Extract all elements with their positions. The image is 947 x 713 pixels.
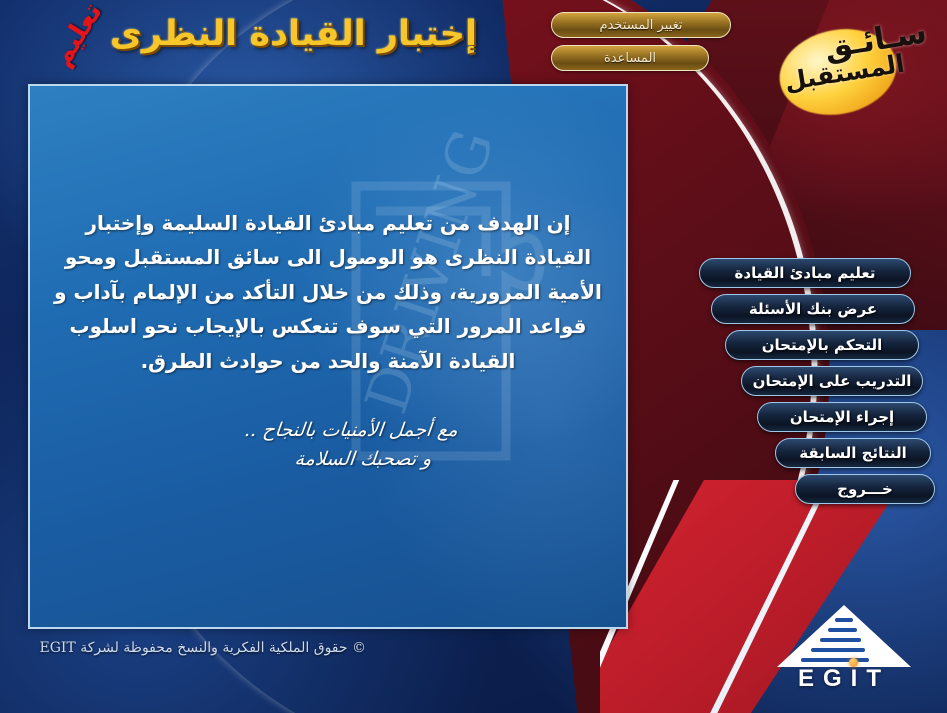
page-title-accent: تعليم — [46, 0, 109, 71]
menu-item-question-bank[interactable]: عرض بنك الأسئلة — [711, 294, 915, 324]
change-user-button[interactable]: تغيير المستخدم — [551, 12, 731, 38]
content-panel: DRIVING إن الهدف من تعليم مبادئ القيادة … — [28, 84, 628, 629]
top-actions: تغيير المستخدم المساعدة — [551, 12, 731, 78]
egit-wordmark: EGIT — [775, 665, 913, 693]
brand-logo: سـائـق المستقبل — [773, 6, 933, 124]
menu-item-learn-driving-principles[interactable]: تعليم مبادئ القيادة — [699, 258, 911, 288]
egit-logo: EGIT — [775, 603, 913, 695]
egit-pyramid-icon — [775, 603, 913, 673]
page-title-main: إختبار القيادة النظرى — [110, 14, 477, 54]
menu-item-take-exam[interactable]: إجراء الإمتحان — [757, 402, 927, 432]
help-button[interactable]: المساعدة — [551, 45, 709, 71]
menu-item-exam-control[interactable]: التحكم بالإمتحان — [725, 330, 919, 360]
signature-line-2: و تصحبك السلامة — [240, 445, 486, 474]
app-window: إختبار القيادة النظرى تعليم تغيير المستخ… — [0, 0, 947, 713]
menu-item-exit[interactable]: خـــروج — [795, 474, 935, 504]
menu-item-exam-training[interactable]: التدريب على الإمتحان — [741, 366, 923, 396]
intro-paragraph: إن الهدف من تعليم مبادئ القيادة السليمة … — [54, 206, 602, 378]
main-menu: تعليم مبادئ القيادةعرض بنك الأسئلةالتحكم… — [697, 258, 947, 510]
page-title: إختبار القيادة النظرى تعليم — [45, 14, 477, 54]
signature-line-1: مع أجمل الأمنيات بالنجاح .. — [243, 416, 459, 445]
copyright-text: © حقوق الملكية الفكرية والنسخ محفوظة لشر… — [26, 640, 366, 656]
signature-block: مع أجمل الأمنيات بالنجاح .. و تصحبك السل… — [240, 416, 459, 473]
menu-item-previous-results[interactable]: النتائج السابقة — [775, 438, 931, 468]
